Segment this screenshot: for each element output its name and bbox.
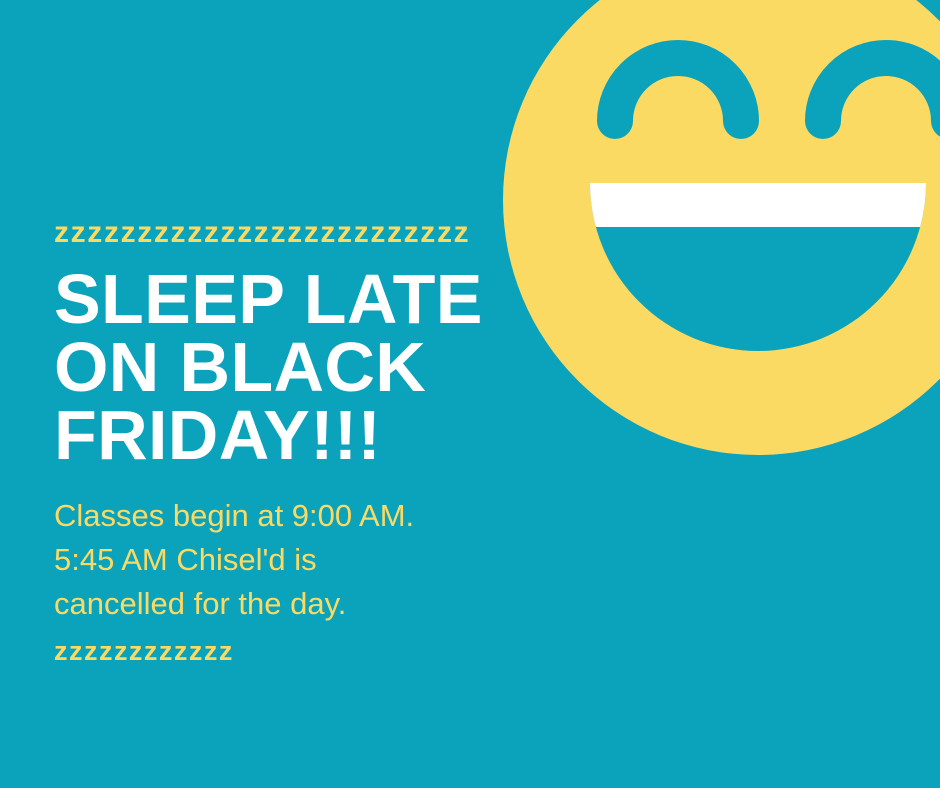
poster-text-block: zzzzzzzzzzzzzzzzzzzzzzzzz SLEEP LATE ON … (54, 218, 614, 665)
body-line-2: 5:45 AM Chisel'd is (54, 538, 484, 582)
smiley-left-eye-icon (615, 58, 741, 121)
headline-line-2: ON BLACK (54, 334, 614, 402)
body-line-3: cancelled for the day. (54, 582, 484, 626)
smiley-mouth-group (573, 181, 940, 351)
smiley-teeth (573, 181, 940, 227)
schedule-details-text: Classes begin at 9:00 AM. 5:45 AM Chisel… (54, 494, 484, 626)
sleep-z-decoration-bottom: zzzzzzzzzzzz (54, 638, 614, 665)
smiley-mouth-inner (590, 183, 926, 351)
sleep-z-decoration-top: zzzzzzzzzzzzzzzzzzzzzzzzz (54, 218, 614, 248)
headline-line-1: SLEEP LATE (54, 266, 614, 334)
smiley-right-eye-icon (823, 58, 940, 121)
poster-canvas: zzzzzzzzzzzzzzzzzzzzzzzzz SLEEP LATE ON … (0, 0, 940, 788)
page-title: SLEEP LATE ON BLACK FRIDAY!!! (54, 266, 614, 470)
headline-line-3: FRIDAY!!! (54, 402, 614, 470)
body-line-1: Classes begin at 9:00 AM. (54, 494, 484, 538)
